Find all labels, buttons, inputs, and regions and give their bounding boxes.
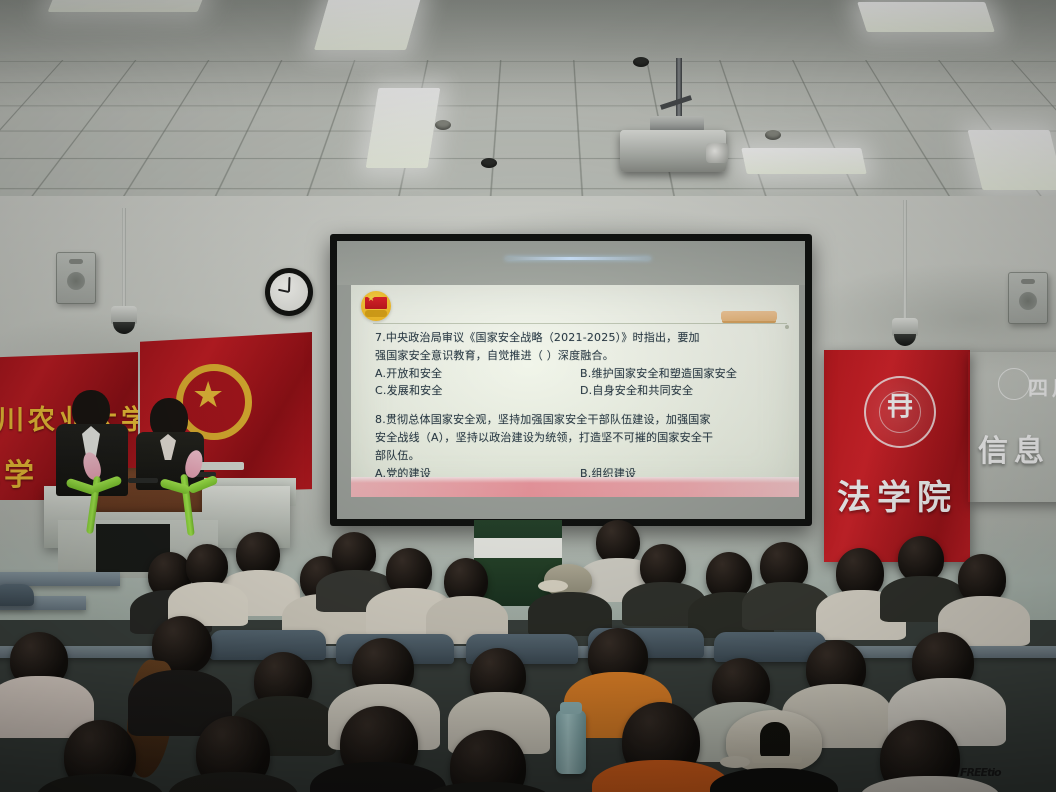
option-c: C.发展和安全 [375, 382, 580, 399]
ceiling-sensor [481, 158, 497, 168]
star-icon: ★ [192, 381, 222, 411]
slide-divider [373, 323, 787, 324]
ceiling [0, 0, 1056, 206]
name-plate [196, 462, 244, 470]
option-a: A.开放和安全 [375, 365, 580, 382]
ceiling-light [48, 0, 207, 12]
ceiling-light [366, 88, 441, 168]
ceiling-light [314, 0, 422, 50]
information-college-label: 信息 [978, 426, 1050, 470]
question-stem-line: 强国家安全意识教育，自觉推进（ ）深度融合。 [375, 347, 785, 364]
badge-text-bar [365, 310, 387, 317]
question-stem-line: 8.贯彻总体国家安全观，坚持加强国家安全干部队伍建设，加强国家 [375, 411, 785, 428]
law-school-label: 法学院 [824, 470, 970, 519]
information-college-flag: 四川 信息 [968, 352, 1056, 502]
audience-body [710, 768, 838, 792]
ceiling-sensor [765, 130, 781, 140]
projection-screen: 7.中央政治局审议《国家安全战略（2021-2025）》时指出，要加 强国家安全… [330, 234, 812, 526]
tshirt-logo: FREEtio [960, 766, 1001, 779]
question-stem-line: 安全战线（A），坚持以政治建设为统领，打造坚不可摧的国家安全干 [375, 429, 785, 446]
option-b: B.维护国家安全和塑造国家安全 [580, 365, 785, 382]
screen-top-band [337, 241, 805, 285]
presentation-slide: 7.中央政治局审议《国家安全战略（2021-2025）》时指出，要加 强国家安全… [351, 285, 799, 497]
microphone [128, 478, 158, 483]
clock-minute-hand [288, 277, 291, 292]
ceiling-sensor [435, 120, 451, 130]
projector-lens [706, 143, 728, 163]
wall-clock [265, 268, 313, 316]
clock-face [270, 273, 308, 311]
law-school-seal-glyph: 冄 [866, 386, 934, 423]
information-college-seal [998, 368, 1030, 400]
option-column-left: A.开放和安全 C.发展和安全 [375, 365, 580, 399]
cap-back-hole [760, 722, 790, 760]
question-options: A.开放和安全 C.发展和安全 B.维护国家安全和塑造国家安全 D.自身安全和共… [375, 365, 785, 399]
slide-decoration-dot [785, 325, 789, 329]
university-banner-line2: 电学 [0, 450, 38, 494]
ceiling-light [968, 130, 1056, 190]
party-flag-badge-icon [361, 291, 391, 321]
youth-league-emblem: ★ [176, 364, 252, 440]
screen-light-streak [505, 257, 650, 260]
information-college-secondary: 四川 [1028, 372, 1056, 401]
presenter-polo-stripe [474, 538, 562, 558]
slide-decoration [721, 311, 777, 321]
wall-speaker [56, 252, 96, 304]
camera-pole [903, 200, 907, 318]
ceiling-light [741, 148, 867, 174]
mini-flag-icon [365, 297, 387, 309]
ceiling-light [857, 2, 995, 32]
slide-content: 7.中央政治局审议《国家安全战略（2021-2025）》时指出，要加 强国家安全… [375, 329, 785, 497]
slide-footer-band [351, 477, 799, 497]
audience-body [168, 772, 298, 792]
wall-speaker [1008, 272, 1048, 324]
ceiling-sensor [633, 57, 649, 67]
screen-surface: 7.中央政治局审议《国家安全战略（2021-2025）》时指出，要加 强国家安全… [337, 241, 805, 519]
camera-pole [122, 208, 126, 306]
audience: LU [0, 520, 1056, 792]
question-stem-line: 部队伍。 [375, 447, 785, 464]
projector-mount-arm [676, 58, 682, 120]
law-school-seal: 冄 [864, 376, 936, 448]
lecture-hall-photo: 四川农业大学 电学 ★ 冄 法学院 四川 信息 [0, 0, 1056, 792]
cap-strap [752, 756, 802, 763]
question-block: 7.中央政治局审议《国家安全战略（2021-2025）》时指出，要加 强国家安全… [375, 329, 785, 399]
audience-body [310, 762, 446, 792]
presenter-polo-top [474, 520, 562, 538]
water-bottle [556, 710, 586, 774]
option-d: D.自身安全和共同安全 [580, 382, 785, 399]
option-column-right: B.维护国家安全和塑造国家安全 D.自身安全和共同安全 [580, 365, 785, 399]
question-stem-line: 7.中央政治局审议《国家安全战略（2021-2025）》时指出，要加 [375, 329, 785, 346]
